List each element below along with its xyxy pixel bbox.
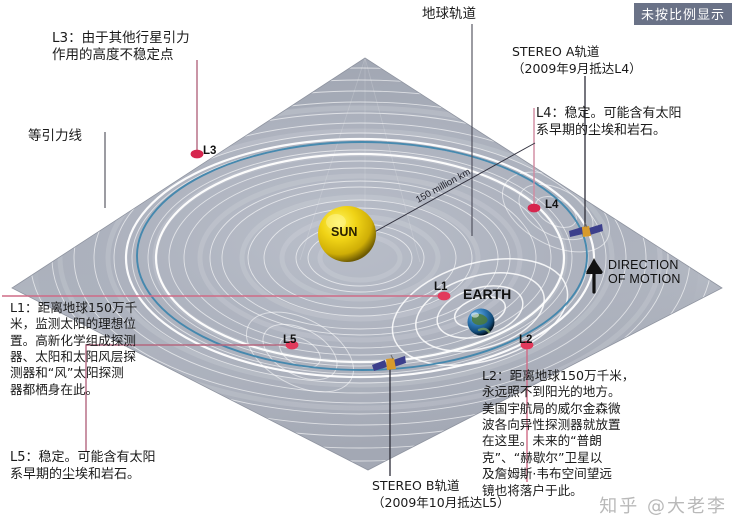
earth-label: EARTH: [463, 286, 511, 302]
l5-annotation: L5：稳定。可能含有太阳 系早期的尘埃和岩石。: [10, 450, 220, 484]
l1-annotation: L1：距离地球150万千 米，监测太阳的理想位 置。高新化学组成探测 器、太阳和…: [10, 300, 206, 398]
l1-point-label: L1: [434, 281, 447, 293]
watermark: 知乎 @大老李: [599, 492, 727, 518]
direction-line-2: OF MOTION: [608, 272, 681, 286]
lagrange-point-diagram: 150 million km: [0, 0, 735, 521]
stereo-b-annotation: STEREO B轨道 （2009年10月抵达L5）: [372, 478, 622, 512]
l4-point-label: L4: [545, 199, 558, 211]
l4-point-marker: [528, 204, 541, 213]
l4-annotation: L4：稳定。可能含有太阳 系早期的尘埃和岩石。: [536, 106, 735, 140]
l5-point-label: L5: [283, 334, 296, 346]
l3-annotation: L3：由于其他行星引力 作用的高度不稳定点: [52, 30, 252, 65]
l3-point-label: L3: [203, 145, 216, 157]
direction-of-motion-label: DIRECTION OF MOTION: [608, 258, 681, 286]
l2-point-label: L2: [519, 334, 532, 346]
earth-orbit-annotation: 地球轨道: [422, 6, 476, 23]
earth-body: [468, 309, 495, 336]
sun-label: SUN: [331, 225, 357, 239]
equipotential-annotation: 等引力线: [28, 128, 82, 145]
not-to-scale-badge: 未按比例显示: [634, 3, 732, 25]
l3-point-marker: [191, 150, 204, 159]
direction-line-1: DIRECTION: [608, 258, 681, 272]
stereo-a-annotation: STEREO A轨道 （2009年9月抵达L4）: [512, 44, 727, 78]
